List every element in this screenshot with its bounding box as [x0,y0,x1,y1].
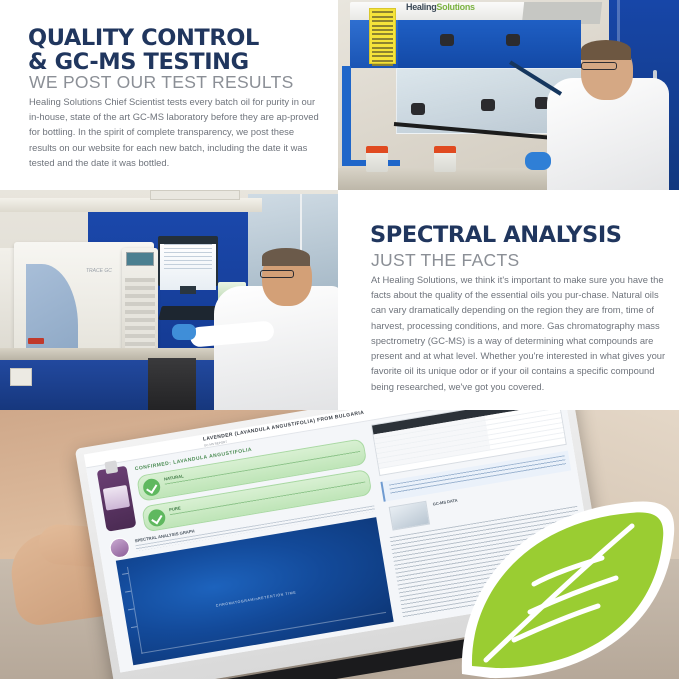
chart-tick [131,626,137,628]
hood-brand-accent: Solutions [436,2,474,12]
report-seal-icon [108,536,131,559]
blue-nitrile-glove [525,152,551,170]
instrument-model-label: TRACE GC [86,268,112,274]
infographic-canvas: QUALITY CONTROL & GC-MS TESTING WE POST … [0,0,679,679]
shelf-storage-box [150,190,240,200]
bench-lower-cabinet [0,360,248,410]
chart-x-axis [141,612,386,654]
report-secondary-section-title: GC-MS DATA [432,498,457,507]
reagent-jar-2 [434,146,456,172]
monitor-stand [180,286,196,294]
report-left-column: CONFIRMED: LAVANDULA ANGUSTIFOLIA NATURA… [95,426,396,665]
chart-tick [122,573,128,575]
hood-glove-port-1 [411,103,425,115]
hazard-warning-label-icon [369,8,396,64]
hood-front-blue-panel [398,20,581,68]
hood-control-knob-1 [440,34,454,46]
instrument-brand-badge [28,338,44,344]
quality-control-heading: QUALITY CONTROL & GC-MS TESTING [28,26,328,75]
instrument-lcd-display [126,252,154,266]
chart-y-axis [127,567,143,654]
spectral-analysis-subheading: JUST THE FACTS [371,250,671,270]
workstation-monitor [158,236,218,286]
quality-control-body: Healing Solutions Chief Scientist tests … [29,94,319,170]
spectral-analysis-text-panel: SPECTRAL ANALYSIS JUST THE FACTS At Heal… [338,190,679,410]
quality-control-subheading: WE POST OUR TEST RESULTS [29,72,329,92]
badge-pure-label: PURE [169,505,181,512]
check-circle-icon [147,508,167,528]
reagent-jar-1 [366,146,388,172]
chart-tick [125,591,131,593]
hood-brand-label: HealingSolutions [406,2,475,12]
healing-solutions-leaf-logo [456,496,679,679]
safety-glasses-icon [260,270,294,278]
hood-glove-port-2 [481,99,495,111]
hood-control-knob-2 [506,34,520,46]
chart-placeholder-label: CHROMATOGRAM\nRETENTION TIME [126,576,387,624]
scientist-hair [581,40,631,60]
spectral-analysis-heading: SPECTRAL ANALYSIS [370,223,670,247]
essential-oil-bottle-image [97,466,137,532]
upper-shelf [0,198,262,212]
quality-control-text-panel: QUALITY CONTROL & GC-MS TESTING WE POST … [0,0,338,190]
wall-outlet [10,368,32,386]
quality-control-heading-line1: QUALITY CONTROL [28,25,259,51]
computer-tower [148,358,196,410]
check-circle-icon [142,478,162,498]
safety-glasses-icon [581,62,617,70]
spectral-analysis-body: At Healing Solutions, we think it's impo… [371,272,668,394]
hood-brand-word: Healing [406,2,436,12]
fume-hood-photo: HealingSolutions [338,0,679,190]
gcms-instrument-photo: TRACE GC [0,190,338,410]
lab-benchtop [0,348,248,360]
report-thumbnail-image [389,501,430,531]
chart-tick [128,608,134,610]
blue-nitrile-glove [172,324,196,340]
scientist-hair [262,248,310,266]
instrument-keypad [125,278,155,348]
